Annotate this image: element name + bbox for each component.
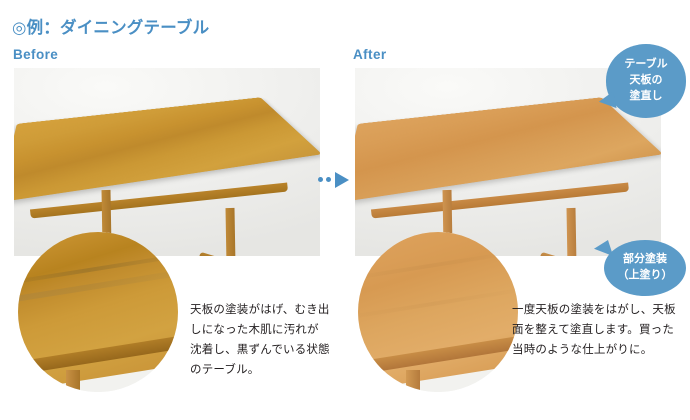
callout-line: 天板の <box>606 72 686 88</box>
bubble-tail <box>597 92 616 112</box>
wood-grain <box>358 248 518 285</box>
before-photo <box>14 68 320 256</box>
after-description: 一度天板の塗装をはがし、天板面を整えて塗直します。買った当時のような仕上がりに。 <box>512 300 680 360</box>
arrow-dot <box>318 177 323 182</box>
page-title: ◎例：ダイニングテーブル <box>12 14 209 38</box>
arrow-right-icon <box>318 172 354 188</box>
table-illustration-before <box>14 68 320 256</box>
wood-grain <box>18 267 178 306</box>
callout-line: 塗直し <box>606 88 686 104</box>
table-leg <box>406 370 420 392</box>
example-comparison-page: ◎例：ダイニングテーブル Before After <box>0 0 690 420</box>
table-leg <box>225 208 235 256</box>
before-label: Before <box>13 47 58 62</box>
arrow-dot <box>326 177 331 182</box>
before-description: 天板の塗装がはげ、むき出しになった木肌に汚れが沈着し、黒ずんでいる状態のテーブル… <box>190 300 330 380</box>
callout-line: テーブル <box>606 56 686 72</box>
callout-line: （上塗り） <box>604 267 686 283</box>
after-closeup-photo <box>358 232 518 392</box>
after-label: After <box>353 47 387 62</box>
before-closeup-photo <box>18 232 178 392</box>
callout-line: 部分塗装 <box>604 251 686 267</box>
callout-bubble-bottom: 部分塗装 （上塗り） <box>604 240 686 296</box>
arrow-head <box>335 172 349 188</box>
table-leg <box>66 370 80 392</box>
table-leg <box>566 208 576 256</box>
wood-grain <box>358 285 518 322</box>
callout-bubble-top: テーブル 天板の 塗直し <box>606 44 686 118</box>
